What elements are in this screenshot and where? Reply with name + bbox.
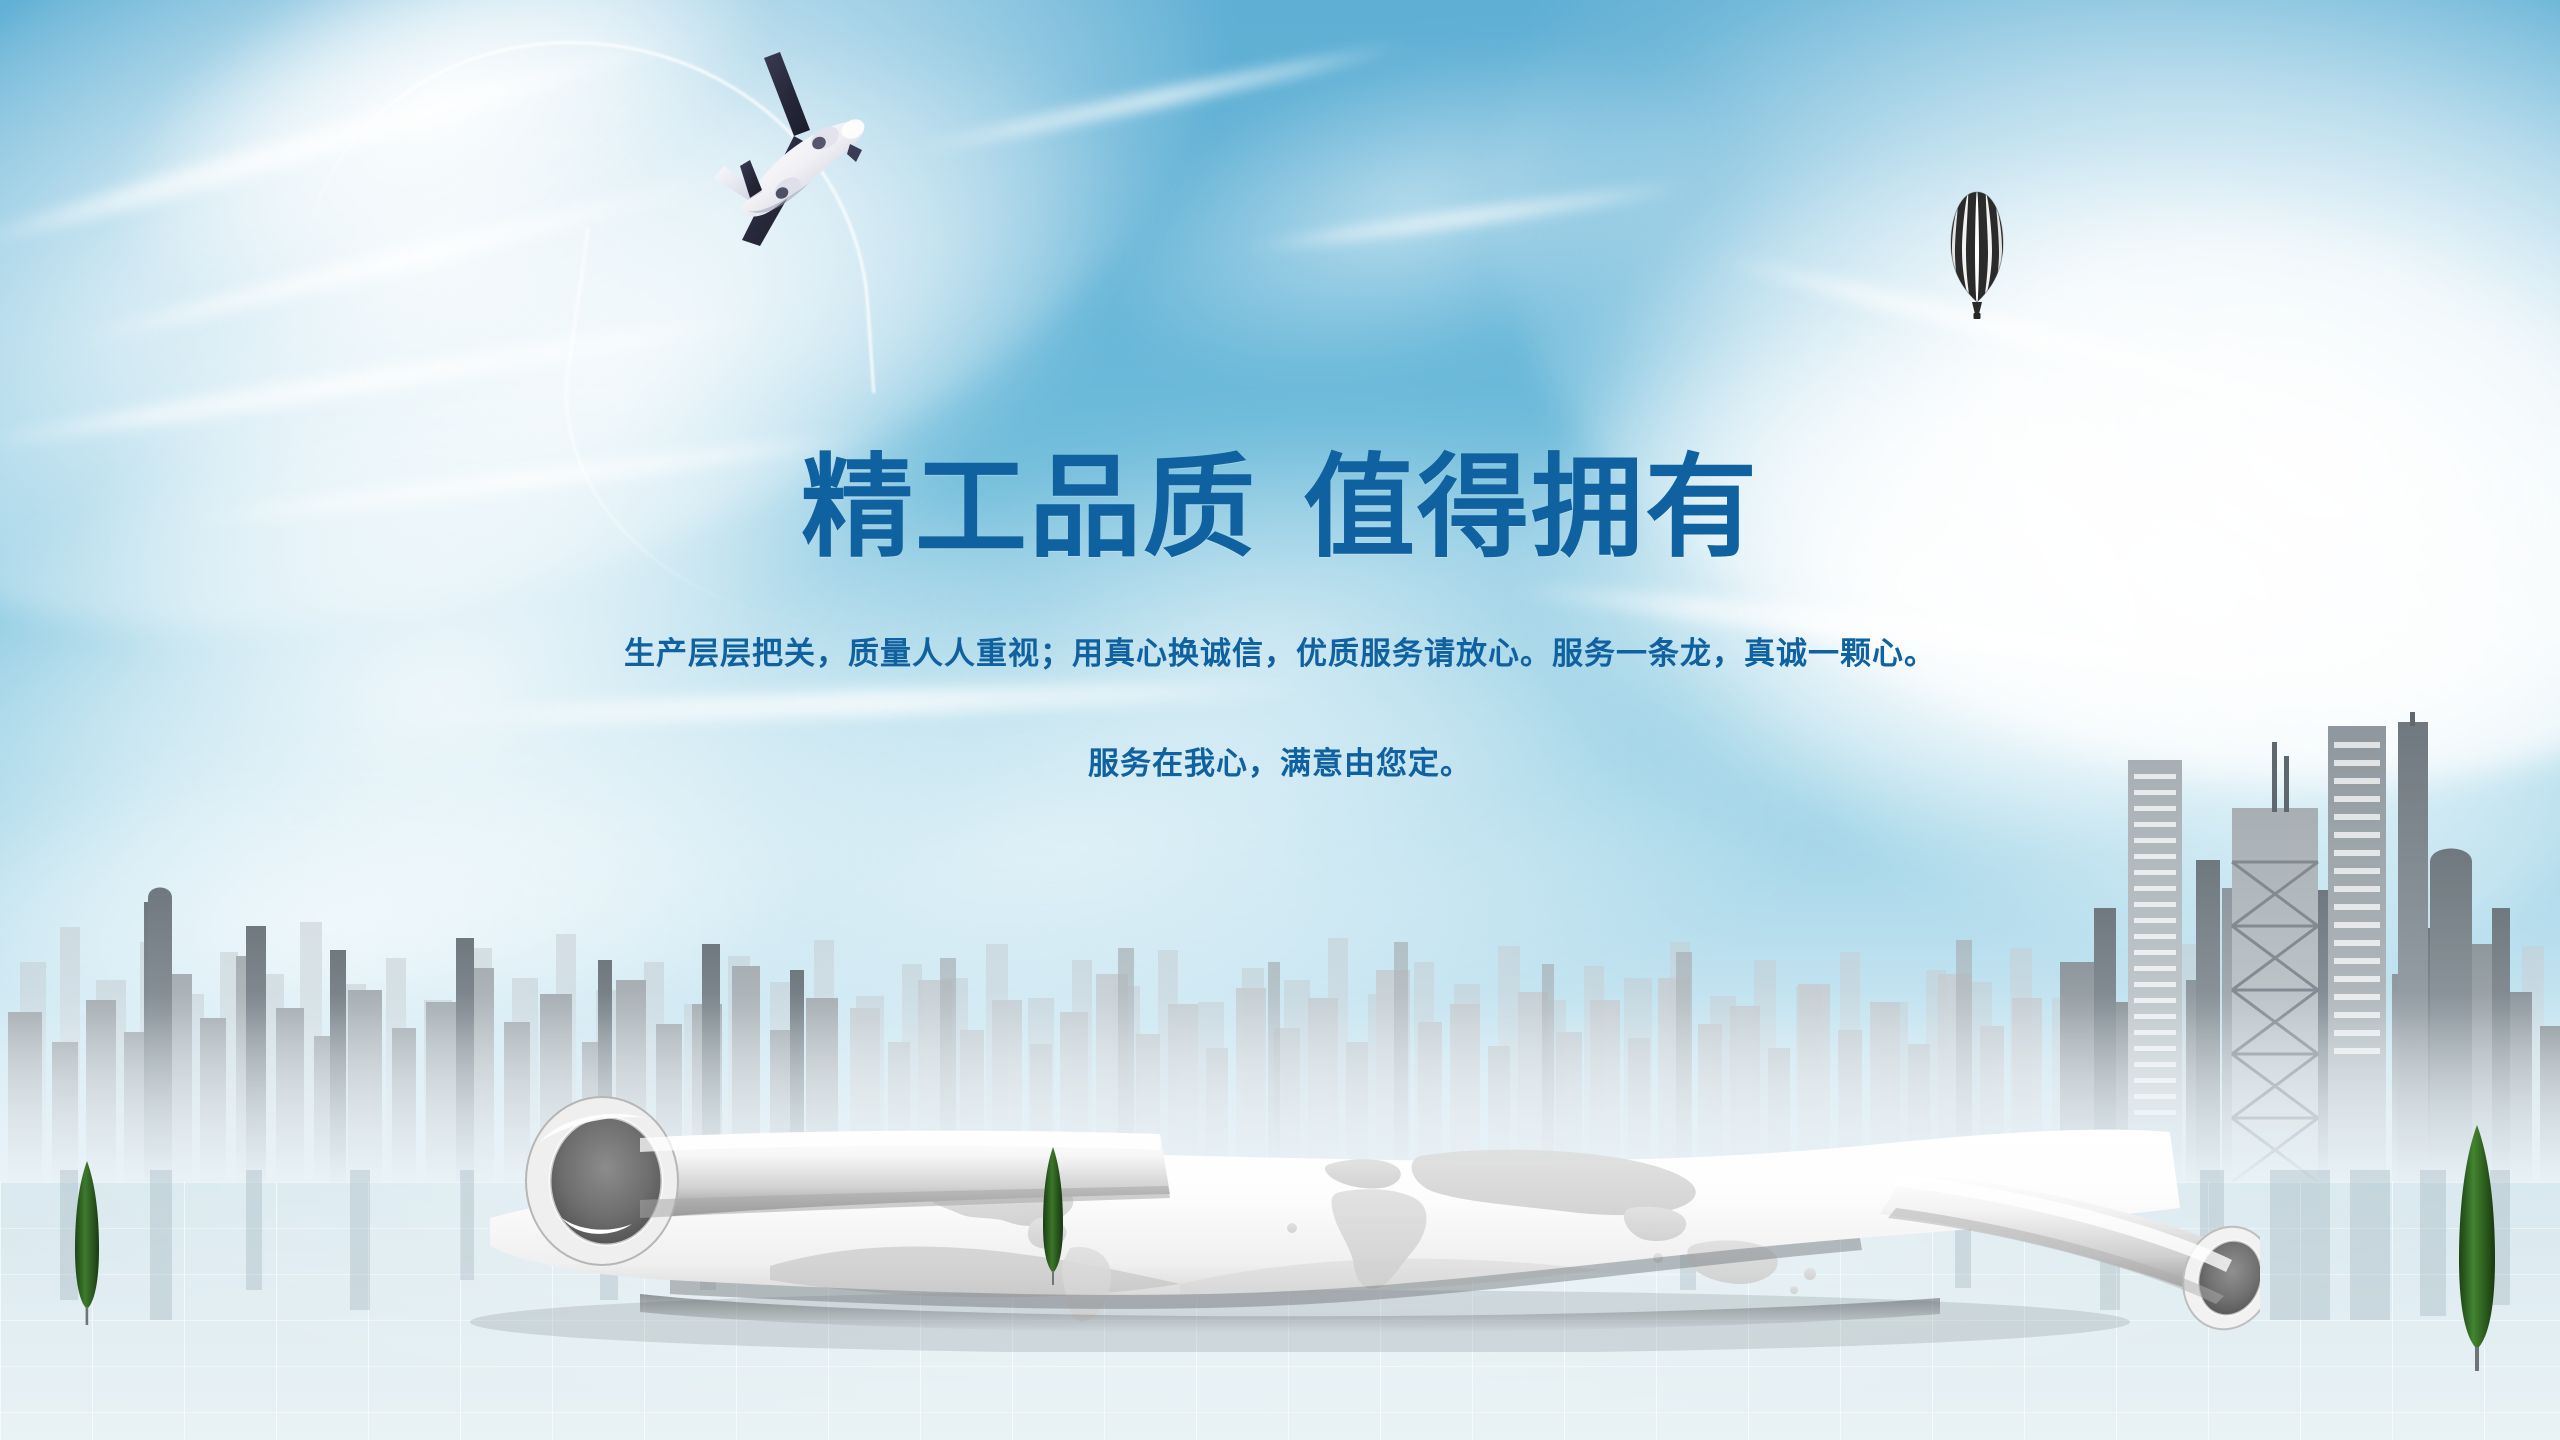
cirrus-streak	[1241, 178, 1698, 256]
headline-part-1: 精工品质	[801, 445, 1257, 570]
cloud-blob	[0, 316, 1114, 1144]
cypress-tree	[68, 1157, 106, 1330]
subtitle-line-1: 生产层层把关，质量人人重视；用真心换诚信，优质服务请放心。服务一条龙，真诚一颗心…	[0, 628, 2560, 673]
cypress-tree	[2448, 1121, 2506, 1376]
cirrus-streak	[904, 36, 1416, 160]
subtitle-line-2: 服务在我心，满意由您定。	[0, 738, 2560, 783]
cirrus-streak	[420, 674, 1320, 731]
cloud-blob	[0, 0, 1246, 851]
cirrus-streak	[1708, 246, 2393, 437]
cloud-blob	[1073, 0, 1747, 431]
page-title: 精工品质值得拥有	[0, 448, 2560, 569]
cloud-blob	[0, 0, 1321, 793]
cirrus-streak	[0, 26, 689, 260]
building-reflections	[0, 1170, 2560, 1320]
headline-part-2: 值得拥有	[1303, 445, 1759, 570]
cloud-blob	[0, 729, 791, 1131]
cypress-tree	[1038, 1145, 1068, 1290]
cloud-blob	[290, 601, 1810, 1099]
poster-canvas: 精工品质值得拥有 生产层层把关，质量人人重视；用真心换诚信，优质服务请放心。服务…	[0, 0, 2560, 1440]
